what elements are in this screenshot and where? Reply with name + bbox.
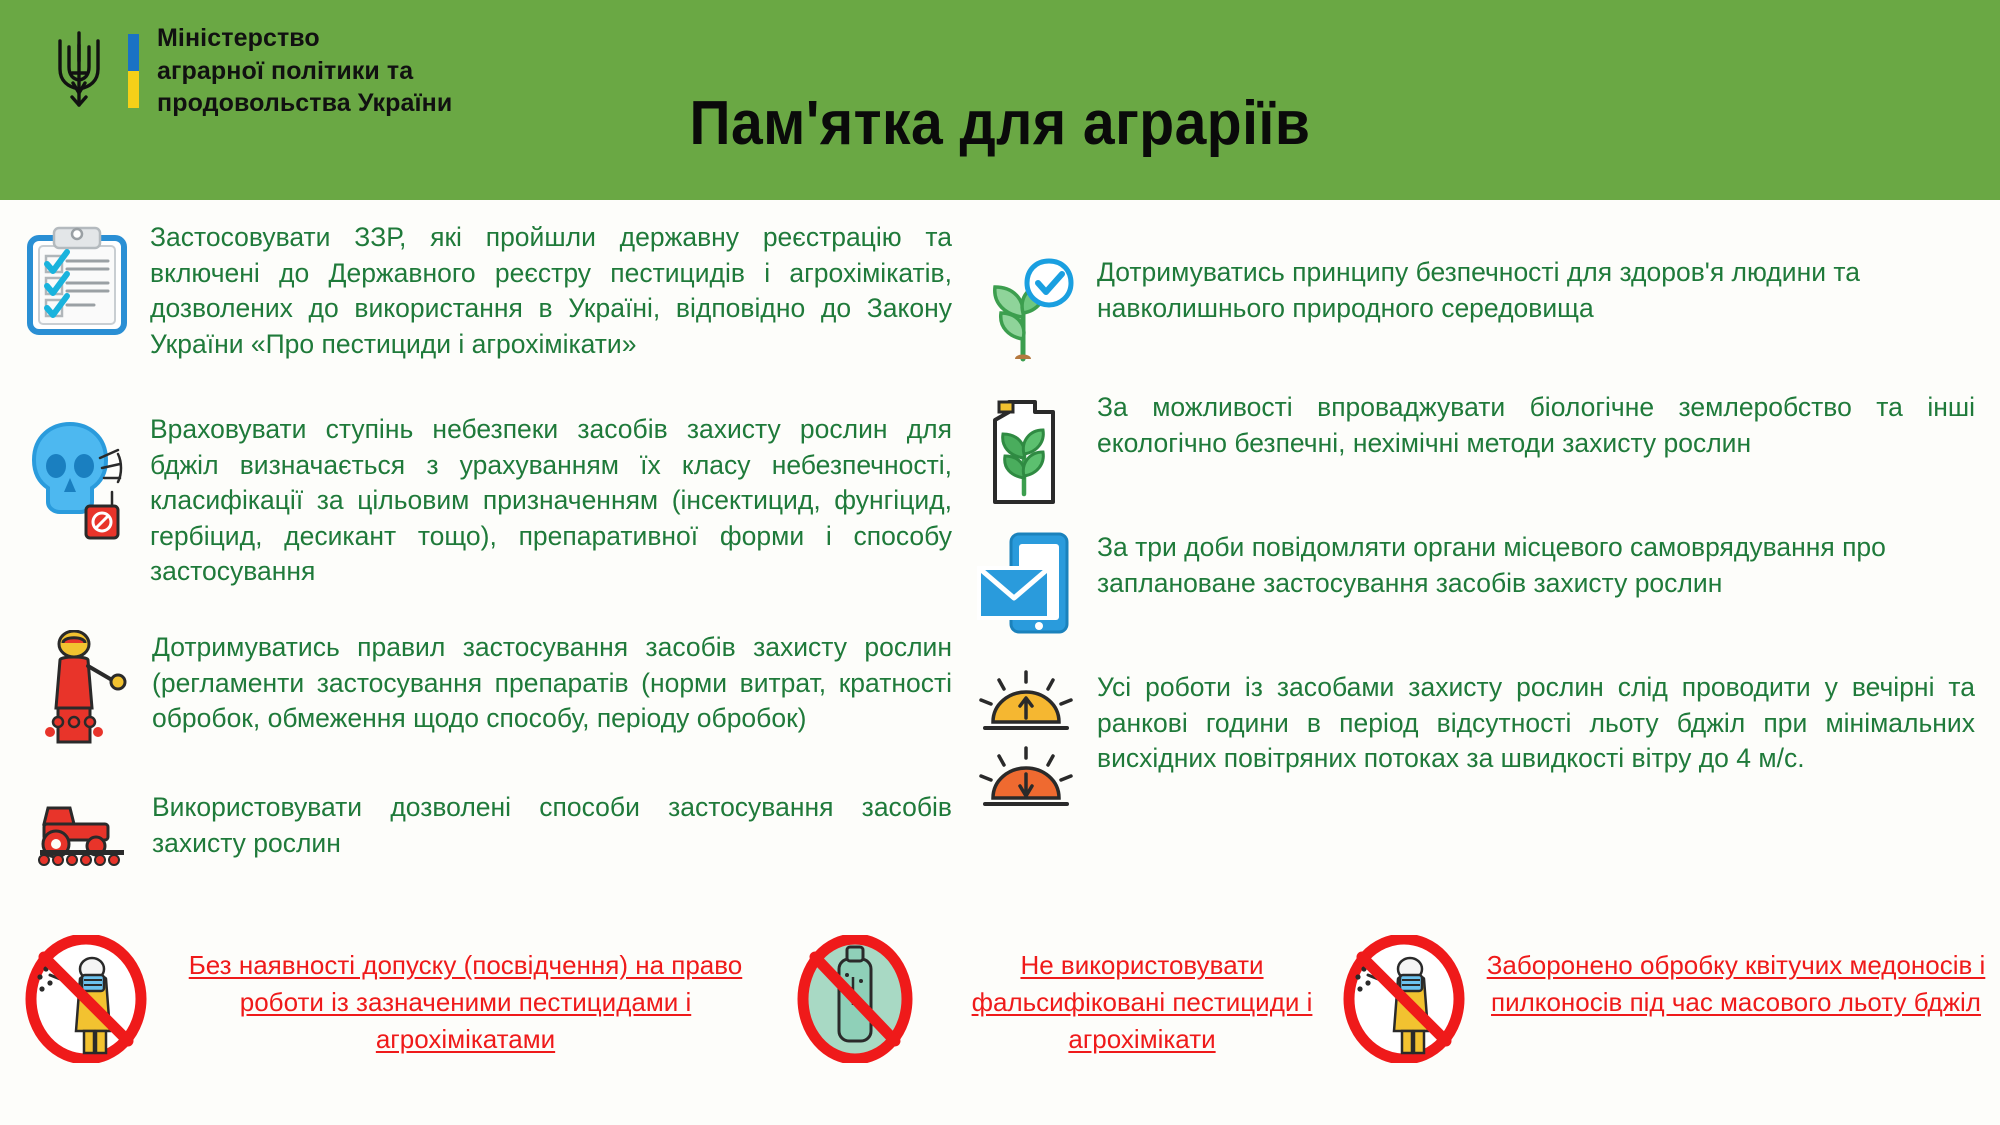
list-item: Усі роботи із засобами захисту рослин сл… [975, 670, 1975, 820]
icon-container [975, 255, 1079, 367]
list-item: Враховувати ступінь небезпеки засобів за… [22, 412, 952, 590]
tractor-icon [30, 790, 134, 868]
list-item: За три доби повідомляти органи місцевого… [975, 530, 1975, 636]
icon-container [22, 925, 150, 1063]
content-area: Застосовувати ЗЗР, які пройшли державну … [0, 200, 2000, 920]
icon-container [975, 670, 1079, 820]
list-item: Дотримуватись принципу безпечності для з… [975, 255, 1975, 367]
icon-container [975, 390, 1079, 508]
envelope-notification-icon [975, 530, 1079, 636]
list-item-text: Дотримуватись принципу безпечності для з… [1097, 255, 1975, 326]
sunrise-glyph [981, 672, 1071, 728]
icon-container [22, 412, 132, 543]
ministry-name-line-1: Міністерство [157, 22, 452, 55]
plant-check-safety-icon [975, 255, 1079, 367]
icon-container [22, 220, 132, 336]
list-item: За можливості впроваджувати біологічне з… [975, 390, 1975, 508]
list-item-text: Використовувати дозволені способи застос… [152, 790, 952, 861]
icon-container [795, 925, 915, 1063]
page-title: Пам'ятка для аграріїв [80, 88, 1920, 159]
infographic-page: Міністерство аграрної політики та продов… [0, 0, 2000, 1125]
skull-pesticide-hazard-icon [22, 418, 132, 543]
no-spraying-flowering-prohibition-icon [1340, 935, 1468, 1063]
list-item-text: Застосовувати ЗЗР, які пройшли державну … [150, 220, 952, 362]
icon-container [975, 530, 1079, 636]
list-item-text: Враховувати ступінь небезпеки засобів за… [150, 412, 952, 590]
warning-text: Не використовувати фальсифіковані пестиц… [929, 925, 1355, 1058]
icon-container [30, 630, 134, 754]
icon-container [30, 790, 134, 868]
warning-item: Не використовувати фальсифіковані пестиц… [795, 925, 1355, 1063]
list-item-text: Усі роботи із засобами захисту рослин сл… [1097, 670, 1975, 777]
warning-text: Заборонено обробку квітучих медоносів і … [1482, 925, 1990, 1021]
sunrise-sunset-icon [975, 670, 1079, 820]
warning-text: Без наявності допуску (посвідчення) на п… [164, 925, 767, 1058]
bio-canister-plant-icon [975, 390, 1079, 508]
warnings-row: Без наявності допуску (посвідчення) на п… [0, 925, 2000, 1110]
ministry-name-line-2: аграрної політики та [157, 55, 452, 88]
list-item-text: За три доби повідомляти органи місцевого… [1097, 530, 1975, 601]
page-header: Міністерство аграрної політики та продов… [0, 0, 2000, 200]
list-item: Застосовувати ЗЗР, які пройшли державну … [22, 220, 952, 362]
list-item-text: За можливості впроваджувати біологічне з… [1097, 390, 1975, 461]
no-counterfeit-canister-prohibition-icon [795, 935, 915, 1063]
sunset-glyph [981, 748, 1071, 804]
list-item: Дотримуватись правил застосування засобі… [30, 630, 952, 754]
clipboard-checklist-icon [22, 224, 132, 336]
list-item-text: Дотримуватись правил застосування засобі… [152, 630, 952, 737]
warning-item: Заборонено обробку квітучих медоносів і … [1340, 925, 1990, 1063]
list-item: Використовувати дозволені способи застос… [30, 790, 952, 868]
warning-item: Без наявності допуску (посвідчення) на п… [22, 925, 767, 1063]
no-spraying-worker-prohibition-icon [22, 935, 150, 1063]
icon-container [1340, 925, 1468, 1063]
sprayer-worker-icon [30, 630, 134, 754]
